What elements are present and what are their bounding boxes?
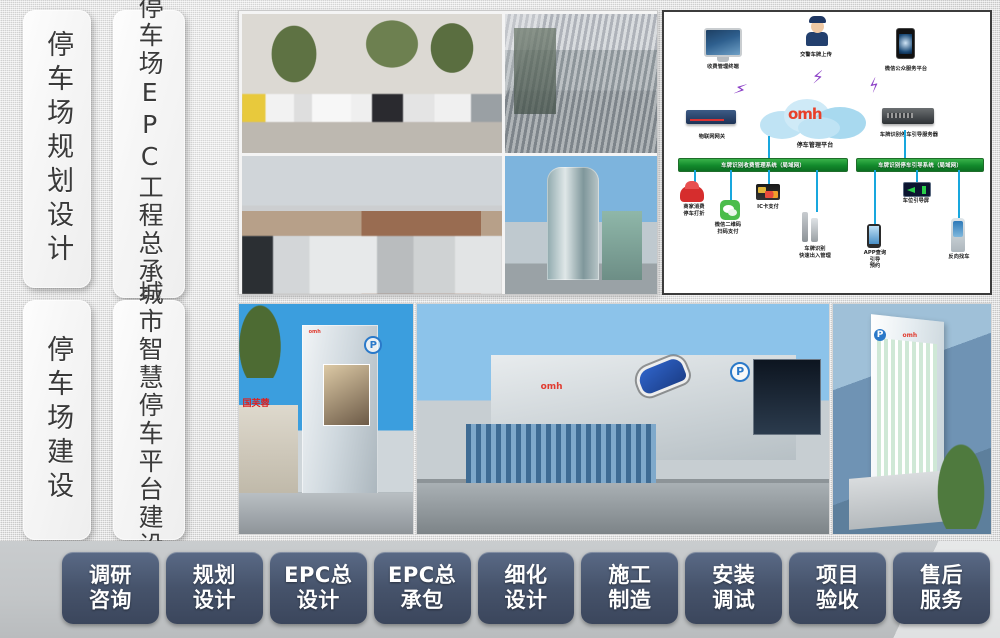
wechat-icon [720, 200, 740, 220]
step-line-2: 调试 [712, 589, 755, 613]
router-icon [686, 110, 736, 124]
step-line-1: 施工 [608, 564, 651, 588]
render-aerial-tower: P omh [832, 303, 992, 535]
leaf-label-space-guide-screen: 车位引导屏 [890, 198, 942, 205]
led-billboard [753, 359, 821, 435]
process-step-bar: 调研 咨询 规划 设计 EPC总 设计 EPC总 承包 细化 设计 施工 制造 … [62, 552, 990, 624]
connector-line [816, 170, 818, 212]
step-line-1: 细化 [505, 564, 548, 588]
leaf-label-ic-card-pay: IC卡支付 [744, 204, 792, 211]
system-architecture-diagram: 收费管理终端 交警车牌上传 微信公众服务平台 物联网网关 车牌识别停车引导服务器… [662, 10, 992, 295]
sidebar-card-label: 停车场规划设计 [43, 30, 71, 268]
step-line-2: 服务 [920, 589, 963, 613]
glass-facade [877, 338, 937, 487]
process-step-installation-commissioning[interactable]: 安装 调试 [685, 552, 782, 624]
slide-canvas: 停车场规划设计 停车场EPC工程总承包 停车场建设 城市智慧停车平台建设 收费管… [0, 0, 1000, 638]
lightning-connector-icon: ⚡ [732, 81, 749, 101]
sidebar-card-smart-parking-platform[interactable]: 城市智慧停车平台建设 [113, 300, 185, 540]
step-line-2: 验收 [816, 589, 859, 613]
connector-line [958, 170, 960, 218]
smartphone-icon [896, 28, 915, 59]
cloud-platform-icon: omh [760, 97, 870, 139]
step-line-2: 设计 [193, 589, 236, 613]
process-step-epc-design[interactable]: EPC总 设计 [270, 552, 367, 624]
sidebar-card-parking-epc-contract[interactable]: 停车场EPC工程总承包 [113, 10, 185, 298]
photo-aerial-parking [505, 14, 657, 153]
step-line-1: EPC总 [388, 564, 456, 588]
step-line-2: 制造 [608, 589, 651, 613]
glass-facade [466, 424, 656, 484]
process-step-detailed-design[interactable]: 细化 设计 [478, 552, 575, 624]
subsystem-bar-toll-lan: 车牌识别收费管理系统（局域网） [678, 158, 848, 172]
process-step-after-sales-service[interactable]: 售后 服务 [893, 552, 990, 624]
tree-decor [238, 303, 284, 378]
cloud-logo-text: omh [788, 105, 822, 123]
step-line-1: EPC总 [284, 564, 352, 588]
render-strip: 国芙蓉 omh P omh P P omh [238, 303, 992, 535]
process-step-planning-design[interactable]: 规划 设计 [166, 552, 263, 624]
process-step-construction-manufacturing[interactable]: 施工 制造 [581, 552, 678, 624]
process-step-project-acceptance[interactable]: 项目 验收 [789, 552, 886, 624]
sidebar-card-label: 停车场EPC工程总承包 [136, 0, 162, 314]
ground-plane [417, 483, 829, 534]
ic-card-icon [756, 184, 780, 200]
step-line-1: 安装 [712, 564, 755, 588]
shop-sign-text: 国芙蓉 [242, 396, 269, 409]
leaf-label-lpr-fast-access: 车牌识别 快速出入管理 [782, 246, 848, 259]
cloud-platform-label: 停车管理平台 [772, 142, 858, 150]
step-line-1: 项目 [816, 564, 859, 588]
step-line-1: 调研 [89, 564, 132, 588]
step-line-2: 承包 [401, 589, 444, 613]
step-line-2: 设计 [297, 589, 340, 613]
sidebar-card-parking-construction[interactable]: 停车场建设 [23, 300, 91, 540]
police-officer-icon [806, 20, 828, 46]
leaf-label-reverse-car-finding: 反向找车 [934, 254, 984, 261]
connector-line [874, 170, 876, 224]
node-label-traffic-police-upload: 交警车牌上传 [776, 52, 856, 59]
barrier-gate-icon [802, 212, 818, 242]
red-car-icon [680, 186, 704, 202]
parking-p-badge: P [730, 362, 750, 382]
step-line-1: 规划 [193, 564, 236, 588]
brand-logo-text: omh [903, 332, 918, 339]
step-line-2: 设计 [505, 589, 548, 613]
leaf-label-app-query-guide: APP查询 引导 预约 [848, 250, 902, 270]
kiosk-icon [951, 218, 965, 252]
leaf-label-merchant-discount: 商家消费 停车打折 [666, 204, 722, 217]
connector-line [768, 170, 770, 184]
ground-plane [239, 493, 413, 534]
parking-p-badge: P [364, 336, 382, 354]
monitor-icon [704, 28, 742, 62]
sidebar-card-parking-planning-design[interactable]: 停车场规划设计 [23, 10, 91, 288]
sidebar-card-label: 停车场建设 [43, 335, 71, 505]
leaf-label-wechat-qr-pay: 微信二维码 扫码支付 [698, 222, 758, 235]
server-icon [882, 108, 934, 124]
photo-grid [238, 10, 658, 295]
lightning-connector-icon: ⚡ [866, 76, 885, 97]
low-building [239, 405, 298, 502]
step-line-2: 咨询 [89, 589, 132, 613]
process-step-research-consulting[interactable]: 调研 咨询 [62, 552, 159, 624]
node-label-iot-gateway: 物联网网关 [674, 134, 750, 141]
sidebar-card-label: 城市智慧停车平台建设 [136, 280, 162, 560]
render-streetside-tower: 国芙蓉 omh P [238, 303, 414, 535]
process-step-epc-contracting[interactable]: EPC总 承包 [374, 552, 471, 624]
node-label-wechat-platform: 微信公众服务平台 [860, 66, 952, 73]
step-line-1: 售后 [920, 564, 963, 588]
connector-line [768, 136, 770, 158]
connector-line [730, 170, 732, 200]
landscape-green [934, 437, 988, 529]
app-phone-icon [867, 224, 881, 248]
brand-logo-text: omh [541, 382, 563, 392]
photo-streetside-parking [242, 14, 502, 153]
brand-logo-text: omh [309, 329, 321, 335]
node-label-toll-terminal: 收费管理终端 [678, 64, 768, 71]
led-guide-screen-icon [903, 182, 931, 197]
billboard-ad [323, 364, 370, 426]
render-garage-building: omh P [416, 303, 830, 535]
lightning-connector-icon: ⚡ [811, 70, 824, 88]
photo-office-tower [505, 156, 657, 295]
photo-old-district-parking [242, 156, 502, 295]
connector-line [904, 130, 906, 158]
